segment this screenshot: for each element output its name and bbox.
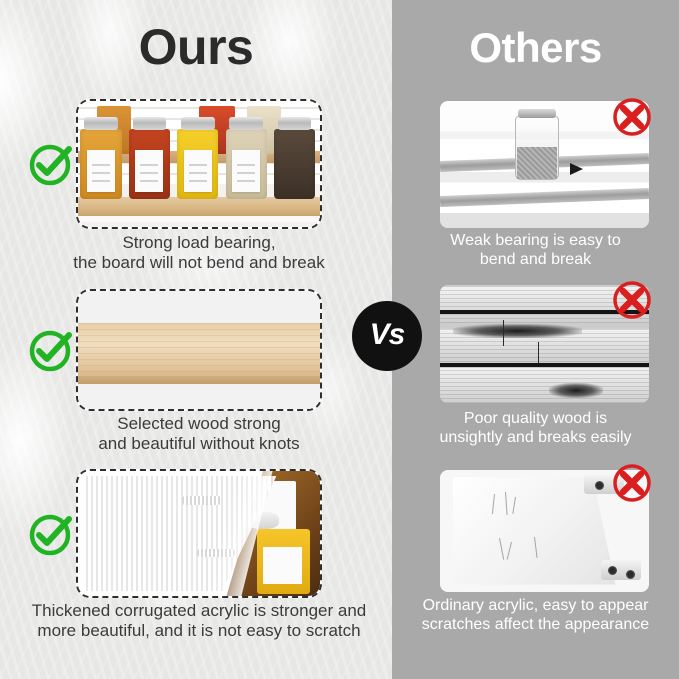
check-circle-icon <box>26 325 76 375</box>
ours-photo-load-bearing <box>76 99 322 229</box>
page-title-ours: Ours <box>0 18 392 76</box>
others-caption-poor-wood: Poor quality wood is unsightly and break… <box>396 410 675 448</box>
corrugated-acrylic-illustration <box>78 471 320 596</box>
vs-badge: Vs <box>352 301 422 371</box>
comparison-infographic: Ours Others Strong load bearing, the boa… <box>0 0 679 679</box>
ours-photo-selected-wood <box>76 289 322 411</box>
others-caption-ordinary-acrylic: Ordinary acrylic, easy to appear scratch… <box>396 597 675 635</box>
cross-circle-icon <box>610 278 654 322</box>
spice-jar-shelf-illustration <box>78 101 320 227</box>
ours-caption-load-bearing: Strong load bearing, the board will not … <box>20 233 378 273</box>
cross-circle-icon <box>610 95 654 139</box>
ours-photo-corrugated-acrylic <box>76 469 322 598</box>
others-caption-weak-bearing: Weak bearing is easy to bend and break <box>400 232 671 270</box>
ours-caption-corrugated-acrylic: Thickened corrugated acrylic is stronger… <box>12 601 386 641</box>
page-title-others: Others <box>392 24 679 72</box>
vs-badge-label: Vs <box>370 320 405 350</box>
check-circle-icon <box>26 509 76 559</box>
ours-caption-selected-wood: Selected wood strong and beautiful witho… <box>20 414 378 454</box>
check-circle-icon <box>26 139 76 189</box>
clean-wood-board-illustration <box>78 291 320 409</box>
cross-circle-icon <box>610 461 654 505</box>
